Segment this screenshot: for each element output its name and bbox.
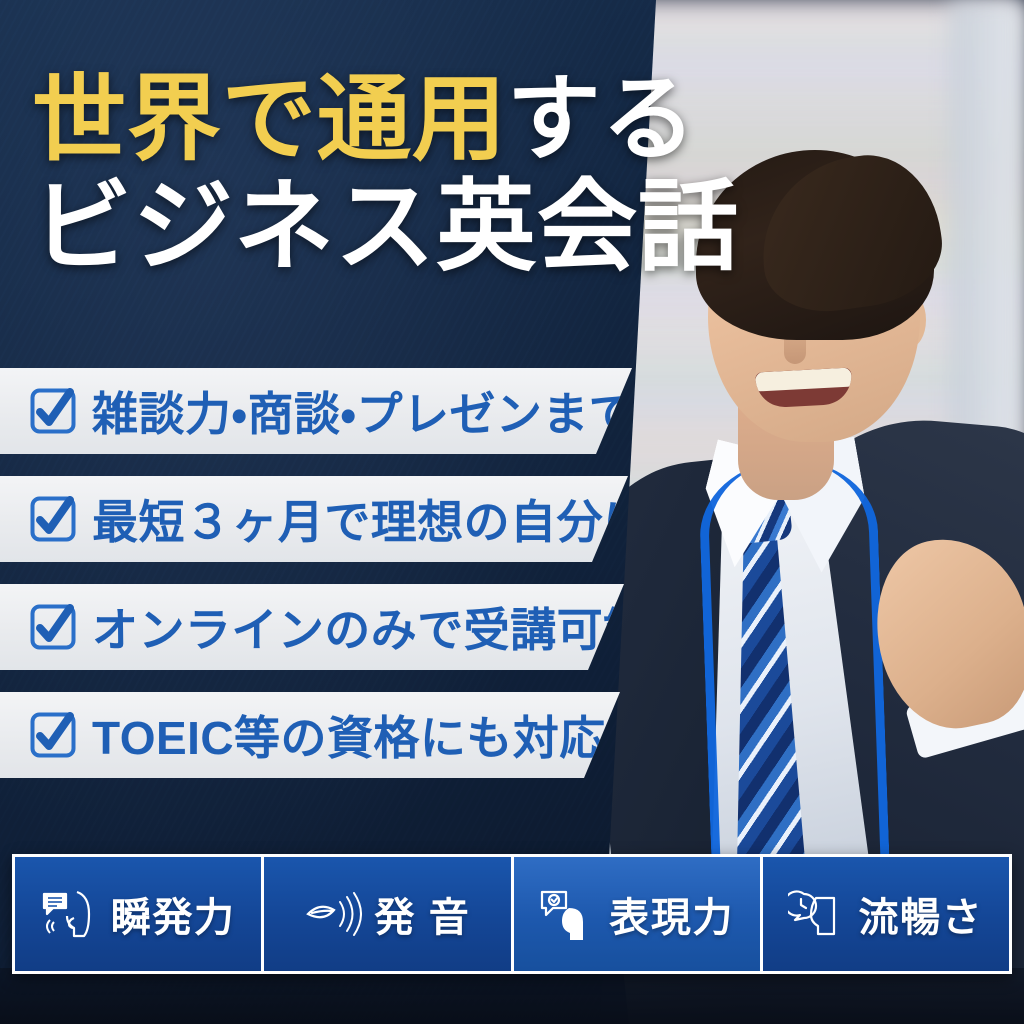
- blue-lanyard: [698, 457, 891, 893]
- list-item: TOEIC等の資格にも対応: [0, 692, 620, 778]
- headline-white-text: する: [507, 68, 697, 172]
- list-item-label: TOEIC等の資格にも対応: [92, 702, 606, 768]
- teeth: [755, 368, 852, 392]
- clock-bubble-head-icon: [788, 888, 846, 940]
- checkbox-checked-icon: [30, 712, 76, 758]
- checkbox-checked-icon: [30, 496, 76, 542]
- skill-cell-hyougenryoku[interactable]: 表現力: [514, 857, 763, 971]
- skill-feature-bar: 瞬発力 発 音: [12, 854, 1012, 974]
- headline-line-1: 世界で通用する: [32, 72, 672, 170]
- skill-label: 流暢さ: [858, 885, 983, 943]
- feature-bullet-list: 雑談力・商談・プレゼンまで 最短３ヶ月で理想の自分に オンラインのみで受講可能: [0, 368, 700, 800]
- list-item-label: オンラインのみで受講可能: [92, 594, 650, 660]
- checkbox-checked-icon: [30, 604, 76, 650]
- list-item: 雑談力・商談・プレゼンまで: [0, 368, 632, 454]
- bottom-shadow-strip: [0, 968, 1024, 1024]
- skill-label: 発 音: [374, 885, 470, 943]
- skill-cell-hatsuon[interactable]: 発 音: [264, 857, 513, 971]
- list-item-label: 雑談力・商談・プレゼンまで: [92, 378, 635, 444]
- list-item: 最短３ヶ月で理想の自分に: [0, 476, 628, 562]
- list-item: オンラインのみで受講可能: [0, 584, 624, 670]
- speech-bubble-head-icon: [41, 888, 99, 940]
- head-chat-bubble-icon: [539, 888, 597, 940]
- skill-label: 表現力: [609, 885, 734, 943]
- list-item-label: 最短３ヶ月で理想の自分に: [92, 486, 650, 552]
- checkbox-checked-icon: [30, 388, 76, 434]
- headline-gold-text: 世界で通用: [32, 68, 507, 172]
- skill-cell-shunpatsuryoku[interactable]: 瞬発力: [15, 857, 264, 971]
- page-title: 世界で通用する ビジネス英会話: [32, 72, 672, 280]
- ad-banner: 世界で通用する ビジネス英会話 雑談力・商談・プレゼンまで 最短３ヶ月で理想の自…: [0, 0, 1024, 1024]
- skill-cell-ryuuchousa[interactable]: 流暢さ: [763, 857, 1009, 971]
- lips-soundwave-icon: [304, 888, 362, 940]
- headline-line-2: ビジネス英会話: [32, 176, 672, 280]
- skill-label: 瞬発力: [111, 885, 236, 943]
